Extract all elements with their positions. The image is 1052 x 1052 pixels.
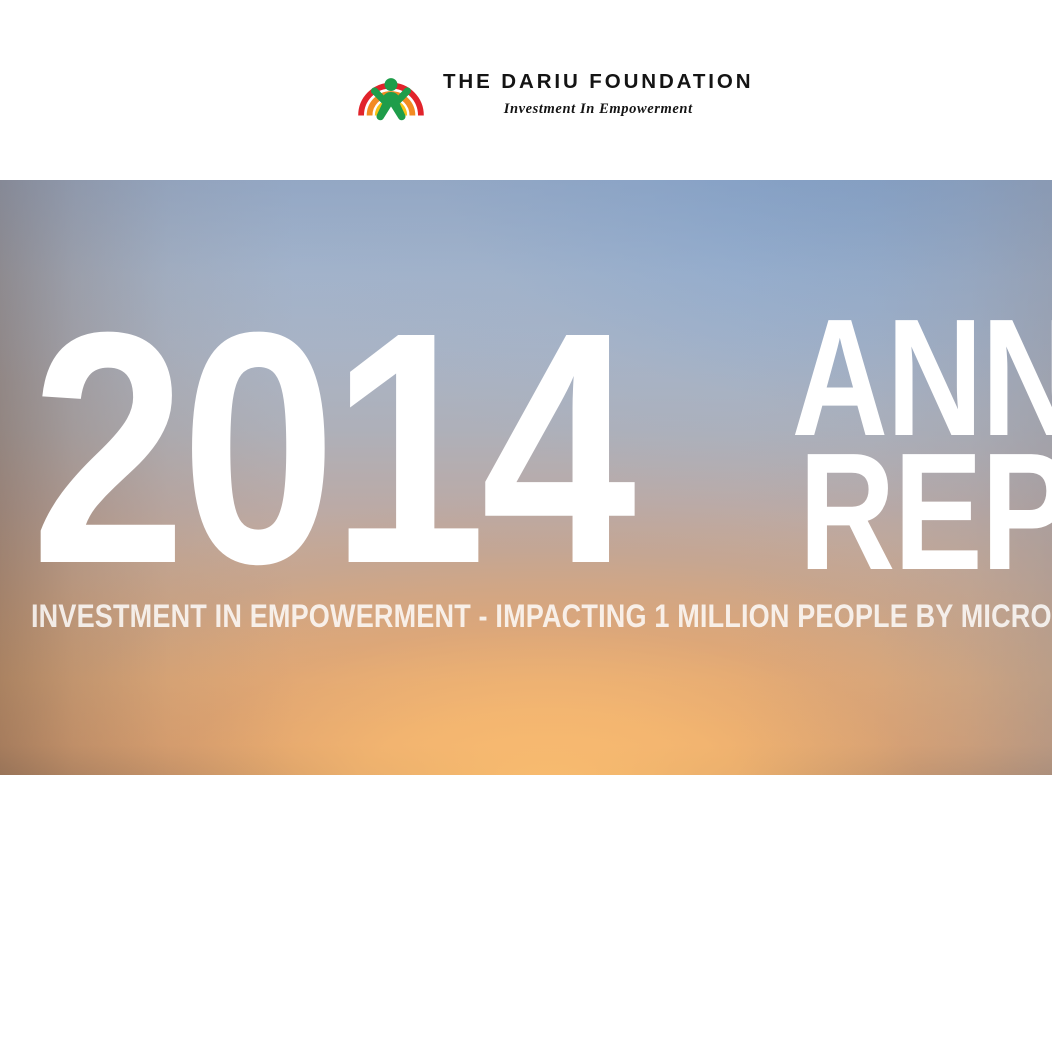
logo-wordmark: THE DARIU FOUNDATION Investment In Empow… bbox=[443, 66, 753, 116]
hero-cover-image: 2014 ANNUAL REPORT INVESTMENT IN EMPOWER… bbox=[0, 180, 1052, 775]
annual-report-cover-page: THE DARIU FOUNDATION Investment In Empow… bbox=[0, 0, 1052, 1052]
dariu-foundation-logo-mark bbox=[357, 57, 425, 125]
organization-name: THE DARIU FOUNDATION bbox=[443, 72, 753, 93]
hero-typography: 2014 ANNUAL REPORT INVESTMENT IN EMPOWER… bbox=[31, 180, 997, 775]
cover-footer-whitespace bbox=[0, 775, 1052, 1052]
logo-lockup: THE DARIU FOUNDATION Investment In Empow… bbox=[357, 57, 753, 125]
headline-line-report: REPORT bbox=[799, 445, 1052, 579]
report-subtitle: INVESTMENT IN EMPOWERMENT - IMPACTING 1 … bbox=[31, 600, 1052, 632]
report-year: 2014 bbox=[31, 313, 631, 584]
report-headline: ANNUAL REPORT bbox=[653, 311, 1052, 580]
cover-header: THE DARIU FOUNDATION Investment In Empow… bbox=[0, 0, 1052, 180]
organization-tagline: Investment In Empowerment bbox=[504, 102, 693, 117]
hero-title-row: 2014 ANNUAL REPORT bbox=[31, 311, 997, 584]
